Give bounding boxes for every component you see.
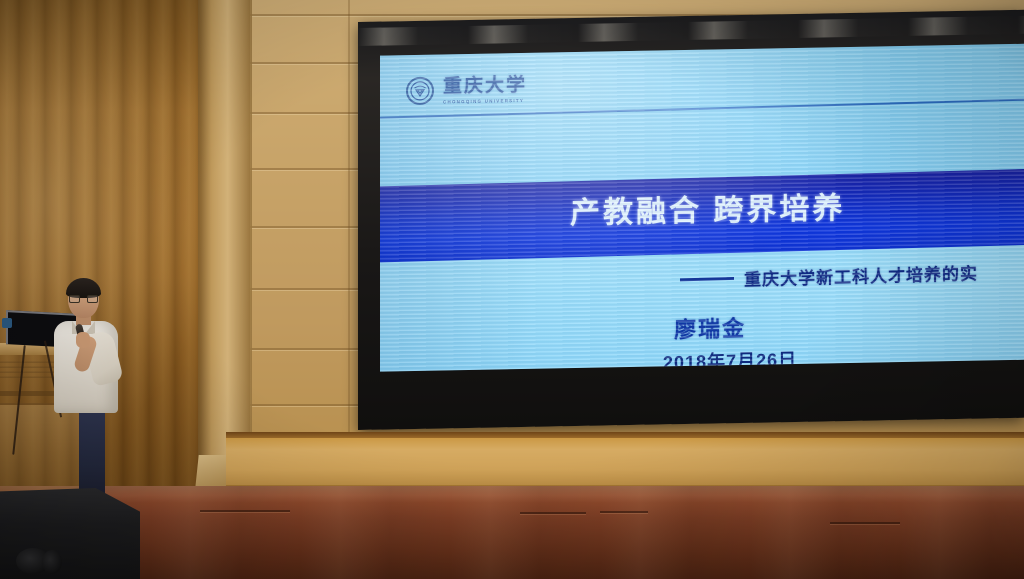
stage-curtain-edge-fold [198, 0, 252, 505]
wainscot-top-trim [226, 432, 1024, 438]
stage-floor [0, 486, 1024, 579]
desk-microphone-base [2, 318, 12, 328]
presenter-person [52, 280, 130, 510]
stage-wainscot-wall [226, 432, 1024, 490]
subtitle-dash-rule [680, 277, 734, 281]
university-logo-chinese-text: 重庆大学 [443, 75, 527, 96]
slide-subtitle: 重庆大学新工科人才培养的实 [744, 259, 978, 290]
presenter-hand [76, 332, 90, 348]
screen-bezel-reflection [358, 16, 1024, 46]
glasses-icon [69, 295, 98, 303]
monitor-speaker-grille-secondary [42, 550, 62, 574]
slide-date: 2018年7月26日 [663, 345, 797, 371]
university-logo: 重庆大学 CHONGQING UNIVERSITY [406, 75, 527, 105]
presentation-photo-scene: 重庆大学 CHONGQING UNIVERSITY 产教融合 跨界培养 重庆大学… [0, 0, 1024, 579]
led-display-screen: 重庆大学 CHONGQING UNIVERSITY 产教融合 跨界培养 重庆大学… [358, 10, 1024, 430]
slide-subtitle-row: 重庆大学新工科人才培养的实 [680, 259, 978, 292]
presentation-slide: 重庆大学 CHONGQING UNIVERSITY 产教融合 跨界培养 重庆大学… [380, 44, 1024, 372]
slide-main-title: 产教融合 跨界培养 [570, 183, 845, 232]
slide-speaker-name: 廖瑞金 [674, 311, 746, 345]
stage-floor-reflection [0, 486, 1024, 579]
stage-floor-monitor [0, 488, 140, 579]
university-logo-english-text: CHONGQING UNIVERSITY [443, 97, 527, 104]
chongqing-university-seal-icon [406, 77, 434, 106]
